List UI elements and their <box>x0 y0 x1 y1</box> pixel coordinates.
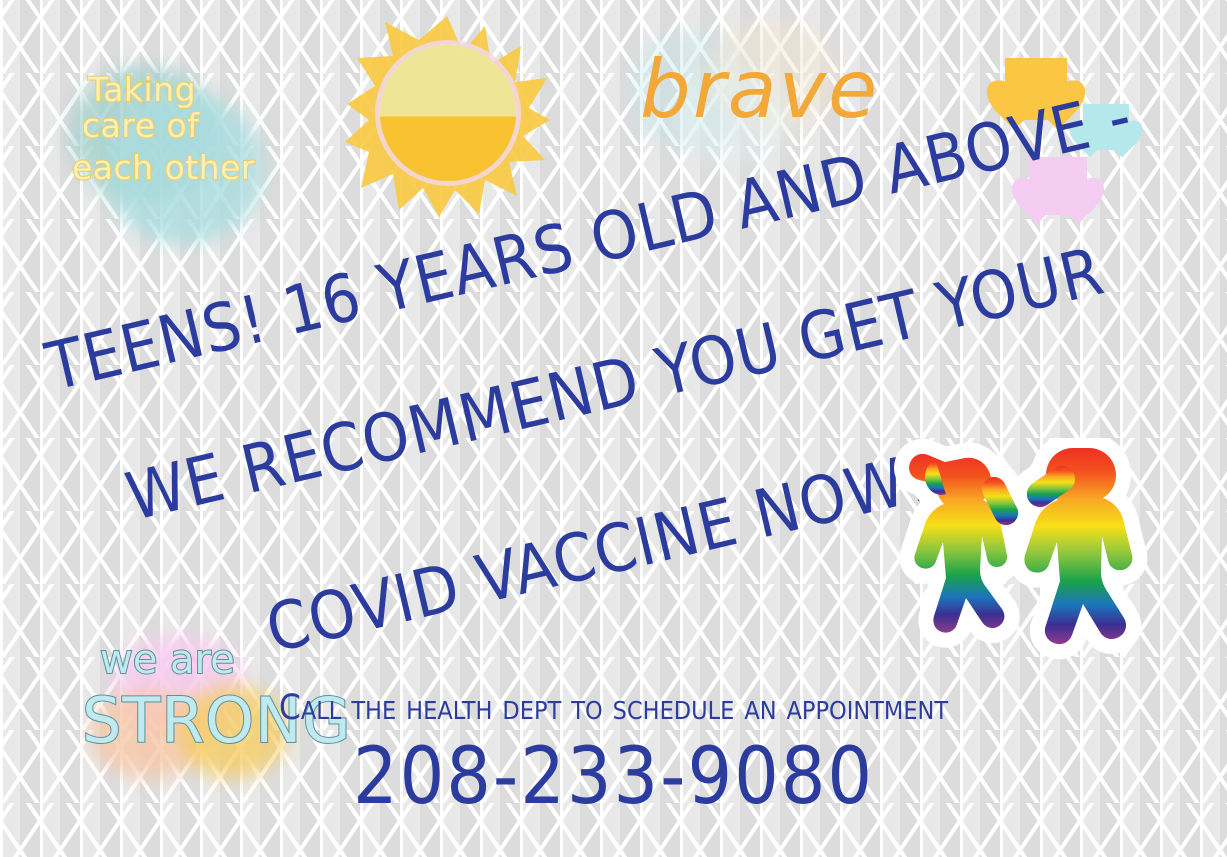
sun-icon <box>345 12 550 217</box>
strong-line-1: we are <box>100 640 235 680</box>
rainbow-dancing-kids-icon <box>893 438 1183 670</box>
phone-number[interactable]: 208-233-9080 <box>0 732 1227 822</box>
care-line-2: care of <box>82 110 282 143</box>
sticker-taking-care: Taking care of each other <box>62 52 262 237</box>
brave-label: brave <box>640 50 879 130</box>
sticker-brave: brave <box>628 22 858 162</box>
care-line-1: Taking <box>88 74 288 107</box>
sun-ring <box>375 40 521 186</box>
poster-canvas: Taking care of each other brave Teens! 1… <box>0 0 1227 857</box>
care-line-3: each other <box>72 152 272 185</box>
call-instruction-text: Call the health dept to schedule an appo… <box>0 688 1227 728</box>
